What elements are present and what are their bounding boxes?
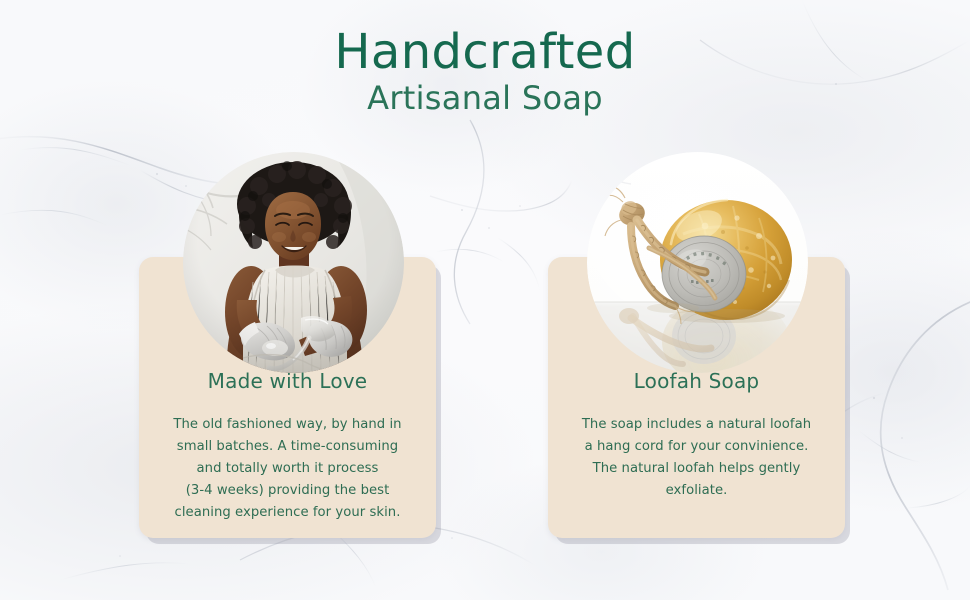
soap-infographic-page: Handcrafted Artisanal Soap Made with Lov…	[0, 0, 970, 600]
photo-woman-pouring-soap	[183, 152, 404, 373]
card-title: Made with Love	[153, 370, 422, 392]
page-title-main: Handcrafted	[0, 28, 970, 77]
card-description: The soap includes a natural loofah a han…	[562, 414, 831, 502]
card-description: The old fashioned way, by hand in small …	[153, 414, 422, 524]
photo-loofah-soap	[587, 152, 808, 373]
card-body: Made with Love The old fashioned way, by…	[139, 370, 436, 524]
card-title: Loofah Soap	[562, 370, 831, 392]
card-body: Loofah Soap The soap includes a natural …	[548, 370, 845, 502]
page-title-sub: Artisanal Soap	[0, 77, 970, 120]
page-heading: Handcrafted Artisanal Soap	[0, 28, 970, 121]
